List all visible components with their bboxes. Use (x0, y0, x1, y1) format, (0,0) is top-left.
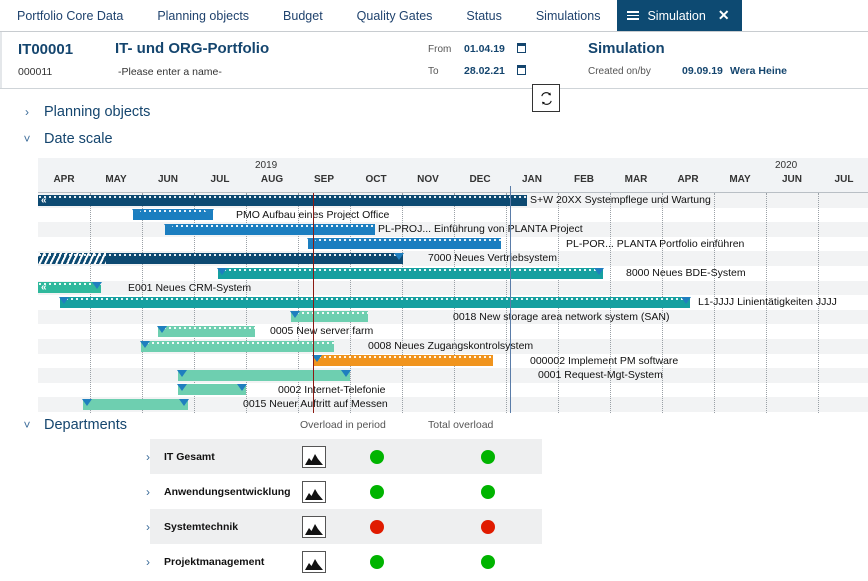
gantt-bar-fill (178, 370, 350, 381)
gantt-milestone-end-icon (179, 399, 189, 406)
tab-simulation[interactable]: Simulation✕ (617, 0, 741, 31)
gantt-milestone-end-icon (92, 282, 102, 289)
tab-planning-objects[interactable]: Planning objects (140, 0, 266, 31)
gantt-bar[interactable] (165, 224, 375, 235)
portfolio-name-field[interactable]: -Please enter a name- (118, 66, 222, 78)
gantt-bar[interactable]: « (38, 195, 527, 206)
gantt-marker-line-head (510, 186, 511, 193)
status-badge-overload-in-period (370, 520, 384, 534)
chevron-right-icon[interactable]: › (142, 450, 154, 464)
gantt-milestone-start-icon (177, 384, 187, 391)
gantt-month-label: FEB (558, 174, 610, 185)
gantt-bar[interactable] (291, 311, 368, 322)
gantt-bar-label: 0005 New server farm (270, 326, 373, 337)
tab-label: Quality Gates (357, 9, 433, 23)
gantt-bar-progress-dots (141, 341, 334, 345)
tab-bar: Portfolio Core DataPlanning objectsBudge… (0, 0, 868, 32)
status-badge-total-overload (481, 520, 495, 534)
gantt-bar[interactable] (178, 370, 350, 381)
gantt-bar-label: 0018 New storage area network system (SA… (453, 312, 670, 323)
gantt-month-label: DEC (454, 174, 506, 185)
tab-budget[interactable]: Budget (266, 0, 340, 31)
section-label: Date scale (44, 131, 113, 147)
gantt-month-label: APR (38, 174, 90, 185)
gantt-month-label: MAY (90, 174, 142, 185)
created-by: Wera Heine (730, 65, 787, 77)
gantt-month-label: NOV (402, 174, 454, 185)
gantt-bar-progress-dots (165, 224, 375, 228)
refresh-icon[interactable] (532, 84, 560, 112)
from-label: From (428, 44, 451, 55)
calendar-icon-to[interactable] (517, 65, 526, 75)
tab-label: Budget (283, 9, 323, 23)
gantt-bar[interactable] (60, 297, 690, 308)
gantt-year-label: 2019 (255, 160, 277, 171)
chevron-down-icon: ˅ (22, 132, 32, 146)
department-row[interactable]: ›Anwendungsentwicklung (150, 474, 542, 509)
chevron-down-icon: ˅ (22, 418, 32, 432)
gantt-bar-label: S+W 20XX Systempflege und Wartung (530, 195, 711, 206)
section-label: Departments (44, 417, 127, 433)
simulation-title: Simulation (588, 40, 665, 57)
gantt-bar-label: PL-PROJ... Einführung von PLANTA Project (378, 224, 583, 235)
chart-icon[interactable] (302, 551, 326, 573)
gantt-month-label: SEP (298, 174, 350, 185)
gantt-bar-label: 000002 Implement PM software (530, 356, 678, 367)
tab-status[interactable]: Status (449, 0, 518, 31)
gantt-month-label: OCT (350, 174, 402, 185)
gantt-bar[interactable] (158, 326, 255, 337)
chart-icon[interactable] (302, 516, 326, 538)
portfolio-id: IT00001 (18, 41, 73, 58)
chevron-right-icon: › (22, 105, 32, 119)
section-departments[interactable]: ˅ Departments (22, 417, 127, 433)
department-name: IT Gesamt (164, 451, 215, 463)
tab-label: Status (466, 9, 501, 23)
gantt-bar-progress-dots (133, 209, 213, 213)
gantt-bar-label: PL-POR... PLANTA Portfolio einführen (566, 239, 744, 250)
status-badge-total-overload (481, 485, 495, 499)
tab-label: Simulation (647, 9, 705, 23)
gantt-timescale-header: 20192020APRMAYJUNJULAUGSEPOCTNOVDECJANFE… (38, 158, 868, 193)
portfolio-sub-id: 000011 (18, 66, 52, 78)
status-badge-overload-in-period (370, 485, 384, 499)
gantt-milestone-end-icon (237, 384, 247, 391)
gantt-milestone-start-icon (164, 224, 174, 231)
gantt-bar-progress-dots (218, 268, 603, 272)
gantt-milestone-end-icon (204, 209, 214, 216)
gantt-milestone-start-icon (82, 399, 92, 406)
chevron-right-icon[interactable]: › (142, 520, 154, 534)
gantt-milestone-end-icon (594, 268, 604, 275)
header-left-accent (0, 32, 2, 88)
gantt-row[interactable] (38, 383, 868, 398)
gantt-bar-progress-dots (313, 355, 493, 359)
gantt-bar-progress-dots (291, 311, 368, 315)
gantt-bar-progress-dots (308, 238, 501, 242)
status-badge-overload-in-period (370, 450, 384, 464)
gantt-bar-label: 0008 Neues Zugangskontrolsystem (368, 341, 533, 352)
calendar-icon-from[interactable] (517, 43, 526, 53)
gantt-bar-hatch (38, 253, 106, 264)
gantt-bar-fill (178, 384, 246, 395)
gantt-bar[interactable] (308, 238, 501, 249)
gantt-bar-progress-dots (38, 195, 527, 199)
tab-portfolio-core-data[interactable]: Portfolio Core Data (0, 0, 140, 31)
gantt-month-label: JAN (506, 174, 558, 185)
gantt-milestone-end-icon (394, 253, 404, 260)
tab-label: Planning objects (157, 9, 249, 23)
created-date: 09.09.19 (682, 65, 723, 77)
department-name: Systemtechnik (164, 521, 238, 533)
created-label: Created on/by (588, 66, 651, 77)
gantt-bar-scroll-arrows[interactable]: « (41, 282, 46, 293)
gantt-bar-label: 0001 Request-Mgt-System (538, 370, 663, 381)
gantt-month-label: JUL (818, 174, 868, 185)
portfolio-title: IT- und ORG-Portfolio (115, 40, 269, 57)
gantt-milestone-start-icon (217, 268, 227, 275)
gantt-bar[interactable] (178, 384, 246, 395)
gantt-bar-label: L1-JJJJ Linientätigkeiten JJJJ (698, 297, 837, 308)
status-badge-total-overload (481, 555, 495, 569)
department-name: Projektmanagement (164, 556, 264, 568)
gantt-bar-fill (83, 399, 188, 410)
hamburger-icon[interactable] (627, 11, 639, 20)
department-row[interactable]: ›IT Gesamt (150, 439, 542, 474)
gantt-bar-scroll-arrows[interactable]: « (41, 195, 46, 206)
section-label: Planning objects (44, 104, 150, 120)
tab-label: Simulations (536, 9, 601, 23)
gantt-milestone-start-icon (140, 341, 150, 348)
gantt-bar[interactable] (313, 355, 493, 366)
gantt-year-label: 2020 (775, 160, 797, 171)
gantt-bar-label: 0002 Internet-Telefonie (278, 385, 385, 396)
gantt-bar-label: 7000 Neues Vertriebsystem (428, 253, 557, 264)
gantt-milestone-start-icon (307, 238, 317, 245)
gantt-marker-line (510, 193, 511, 413)
tab-label: Portfolio Core Data (17, 9, 123, 23)
department-name: Anwendungsentwicklung (164, 486, 291, 498)
gantt-month-label: JUL (194, 174, 246, 185)
to-label: To (428, 66, 439, 77)
gantt-bar-label: 0015 Neuer Auftritt auf Messen (243, 399, 388, 410)
gantt-milestone-start-icon (157, 326, 167, 333)
tab-quality-gates[interactable]: Quality Gates (340, 0, 450, 31)
gantt-chart[interactable]: 20192020APRMAYJUNJULAUGSEPOCTNOVDECJANFE… (38, 158, 868, 413)
gantt-milestone-start-icon (290, 311, 300, 318)
gantt-milestone-end-icon (681, 297, 691, 304)
close-icon[interactable]: ✕ (718, 7, 730, 24)
gantt-month-label: AUG (246, 174, 298, 185)
column-header-total-overload: Total overload (428, 419, 493, 431)
chart-icon[interactable] (302, 481, 326, 503)
gantt-month-label: MAR (610, 174, 662, 185)
gantt-bar[interactable] (218, 268, 603, 279)
status-badge-overload-in-period (370, 555, 384, 569)
gantt-month-label: JUN (142, 174, 194, 185)
gantt-milestone-start-icon (59, 297, 69, 304)
gantt-month-label: APR (662, 174, 714, 185)
gantt-today-line (313, 193, 314, 413)
chevron-right-icon[interactable]: › (142, 555, 154, 569)
section-planning-objects[interactable]: › Planning objects (22, 104, 150, 120)
gantt-rows-area[interactable]: «S+W 20XX Systempflege und WartungPMO Au… (38, 193, 868, 413)
gantt-milestone-start-icon (177, 370, 187, 377)
gantt-milestone-start-icon (132, 209, 142, 216)
gantt-month-label: JUN (766, 174, 818, 185)
gantt-bar-label: 8000 Neues BDE-System (626, 268, 746, 279)
gantt-bar[interactable] (38, 253, 403, 264)
gantt-bar[interactable] (83, 399, 188, 410)
portfolio-header: IT00001 000011 IT- und ORG-Portfolio -Pl… (0, 32, 868, 89)
status-badge-total-overload (481, 450, 495, 464)
section-date-scale[interactable]: ˅ Date scale (22, 131, 113, 147)
chevron-right-icon[interactable]: › (142, 485, 154, 499)
department-row[interactable]: ›Systemtechnik (150, 509, 542, 544)
gantt-bar[interactable] (141, 341, 334, 352)
to-date-input[interactable]: 28.02.21 (464, 65, 505, 77)
gantt-bar-progress-dots (60, 297, 690, 301)
column-header-overload-in-period: Overload in period (300, 419, 386, 431)
gantt-bar-progress-dots (158, 326, 255, 330)
chart-icon[interactable] (302, 446, 326, 468)
tab-simulations[interactable]: Simulations (519, 0, 618, 31)
from-date-input[interactable]: 01.04.19 (464, 43, 505, 55)
gantt-month-label: MAY (714, 174, 766, 185)
gantt-bar-label: E001 Neues CRM-System (128, 283, 251, 294)
gantt-bar[interactable] (133, 209, 213, 220)
gantt-row[interactable] (38, 368, 868, 383)
gantt-milestone-end-icon (341, 370, 351, 377)
department-row[interactable]: ›Projektmanagement (150, 544, 542, 579)
